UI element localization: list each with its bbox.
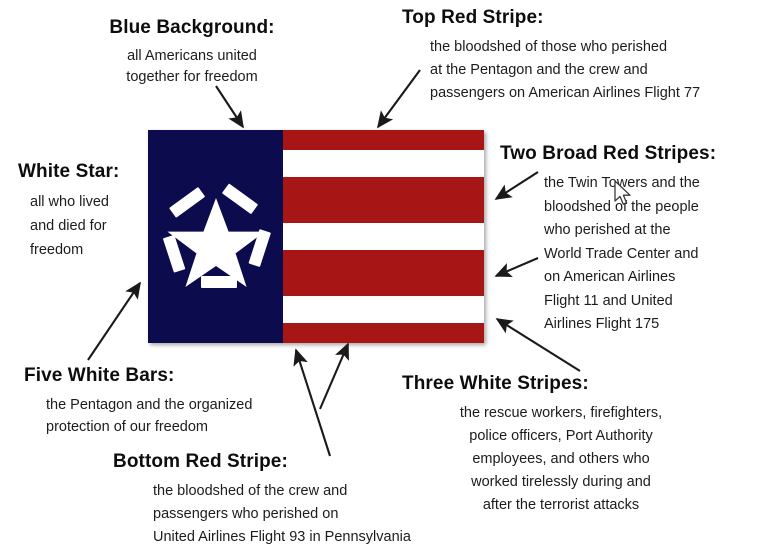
- stripe-white-1: [283, 150, 484, 177]
- annotation-line-3: worked tirelessly during and: [396, 471, 726, 494]
- annotation-line-0: the Twin Towers and the: [544, 172, 758, 196]
- stripe-broad-red-2: [283, 250, 484, 295]
- annotation-body: the rescue workers, firefighters,police …: [396, 402, 726, 517]
- annotation-line-2: who perished at the: [544, 219, 758, 243]
- annotation-line-0: all who lived: [30, 190, 146, 214]
- stripe-white-3: [283, 296, 484, 323]
- annotation-white-star: White Star: all who livedand died forfre…: [18, 160, 146, 262]
- annotation-line-2: passengers on American Airlines Flight 7…: [430, 82, 754, 105]
- annotation-body: the bloodshed of those who perishedat th…: [430, 36, 754, 105]
- annotation-line-1: at the Pentagon and the crew and: [430, 59, 754, 82]
- annotation-five-white-bars: Five White Bars: the Pentagon and the or…: [24, 364, 324, 438]
- annotation-title: Five White Bars:: [24, 364, 324, 388]
- white-bar-upper-right: [221, 183, 257, 214]
- annotation-line-4: after the terrorist attacks: [396, 494, 726, 517]
- stripe-top-red: [283, 130, 484, 150]
- annotation-blue-background: Blue Background: all Americans unitedtog…: [62, 16, 322, 88]
- annotation-line-0: all Americans united: [62, 46, 322, 67]
- annotation-line-3: World Trade Center and: [544, 243, 758, 267]
- annotation-line-1: police officers, Port Authority: [396, 425, 726, 448]
- white-bar-bottom: [201, 276, 237, 288]
- annotation-line-1: and died for: [30, 214, 146, 238]
- annotation-title: White Star:: [18, 160, 146, 184]
- annotation-line-0: the Pentagon and the organized: [46, 394, 324, 416]
- annotation-title: Two Broad Red Stripes:: [500, 142, 758, 166]
- honor-and-remember-flag: [148, 130, 484, 343]
- annotation-line-2: United Airlines Flight 93 in Pennsylvani…: [153, 526, 463, 549]
- annotation-line-2: freedom: [30, 238, 146, 262]
- annotation-title: Blue Background:: [62, 16, 322, 40]
- annotation-three-white-stripes: Three White Stripes: the rescue workers,…: [396, 372, 726, 517]
- annotation-body: all who livedand died forfreedom: [30, 190, 146, 262]
- annotation-top-red-stripe: Top Red Stripe: the bloodshed of those w…: [402, 6, 754, 105]
- annotation-title: Top Red Stripe:: [402, 6, 754, 30]
- annotation-line-6: Airlines Flight 175: [544, 313, 758, 337]
- annotation-line-1: protection of our freedom: [46, 416, 324, 438]
- arrow-to-bottom-red-stripe: [320, 344, 348, 409]
- white-bar-upper-left: [169, 186, 205, 217]
- annotation-body: all Americans unitedtogether for freedom: [62, 46, 322, 88]
- annotation-body: the Twin Towers and thebloodshed of the …: [544, 172, 758, 337]
- flag-canton-blue-background: [148, 130, 283, 343]
- annotation-line-2: employees, and others who: [396, 448, 726, 471]
- annotation-line-1: bloodshed of the people: [544, 196, 758, 220]
- annotation-title: Three White Stripes:: [402, 372, 726, 396]
- stripe-bottom-red: [283, 323, 484, 343]
- annotation-line-5: Flight 11 and United: [544, 290, 758, 314]
- annotation-line-4: on American Airlines: [544, 266, 758, 290]
- annotation-line-1: together for freedom: [62, 67, 322, 88]
- mouse-pointer-icon: [613, 180, 633, 208]
- flag-stripes: [283, 130, 484, 343]
- diagram-canvas: Blue Background: all Americans unitedtog…: [0, 0, 763, 557]
- annotation-line-0: the rescue workers, firefighters,: [396, 402, 726, 425]
- white-star-emblem: [155, 176, 277, 298]
- annotation-body: the Pentagon and the organizedprotection…: [46, 394, 324, 438]
- arrow-to-canton-top: [216, 86, 243, 127]
- annotation-line-0: the bloodshed of those who perished: [430, 36, 754, 59]
- stripe-broad-red-1: [283, 177, 484, 222]
- stripe-white-2: [283, 223, 484, 250]
- annotation-two-broad-red-stripes: Two Broad Red Stripes: the Twin Towers a…: [500, 142, 758, 337]
- arrow-to-white-star: [88, 283, 140, 360]
